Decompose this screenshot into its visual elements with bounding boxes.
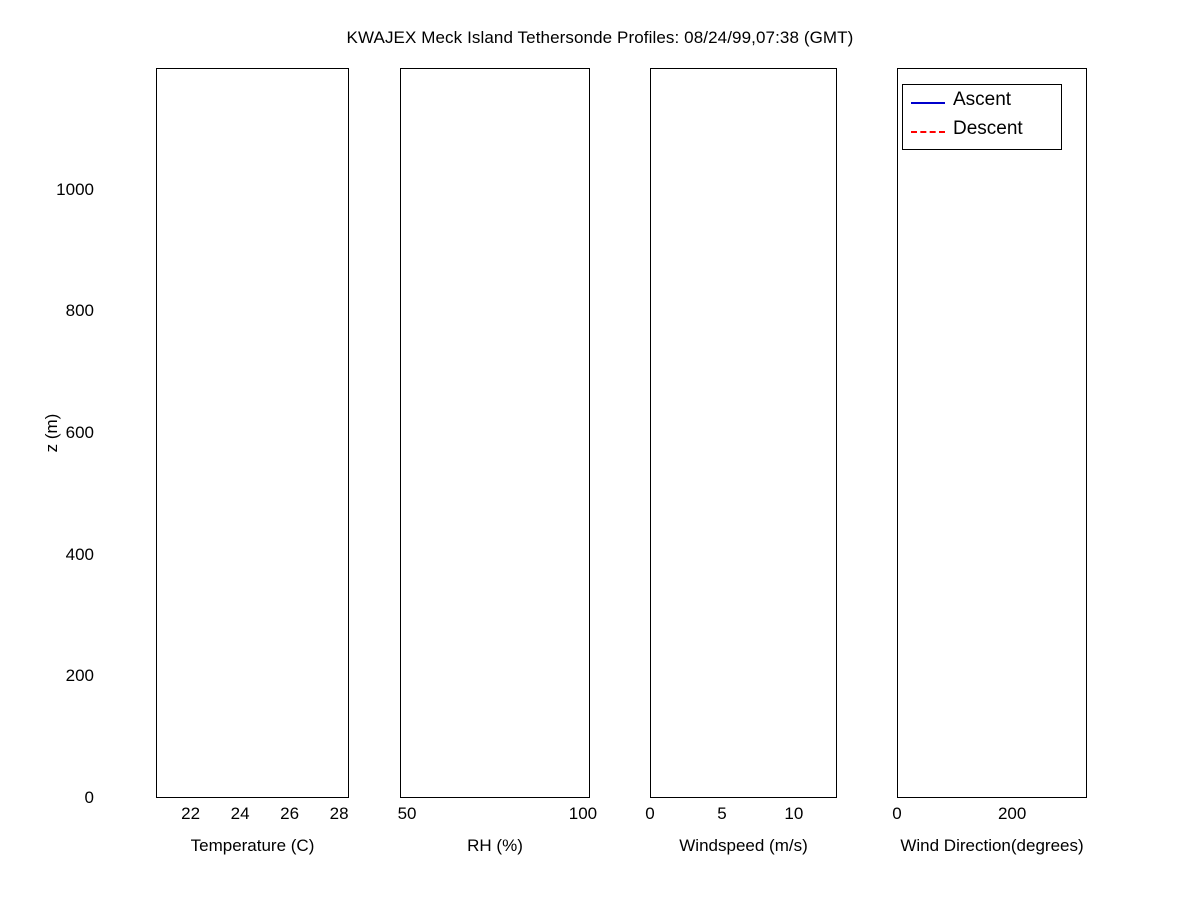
y-tick-label: 800 xyxy=(66,301,94,321)
x-tick-label: 0 xyxy=(645,804,654,824)
x-axis-title-panel-4: Wind Direction(degrees) xyxy=(900,836,1083,856)
panel-temperature xyxy=(156,68,349,798)
legend-entry-ascent: Ascent xyxy=(903,88,1061,117)
panel-frame xyxy=(897,68,1087,798)
figure-canvas: KWAJEX Meck Island Tethersonde Profiles:… xyxy=(0,0,1200,900)
y-tick-label: 400 xyxy=(66,545,94,565)
x-tick-label: 50 xyxy=(398,804,417,824)
legend-label-ascent: Ascent xyxy=(953,89,1011,111)
x-axis-title-panel-3: Windspeed (m/s) xyxy=(679,836,807,856)
panel-rh xyxy=(400,68,590,798)
panel-frame xyxy=(156,68,349,798)
panel-wind-direction xyxy=(897,68,1087,798)
panel-frame xyxy=(650,68,837,798)
figure-title: KWAJEX Meck Island Tethersonde Profiles:… xyxy=(0,28,1200,48)
x-tick-label: 10 xyxy=(784,804,803,824)
x-tick-label: 200 xyxy=(998,804,1026,824)
x-axis-title-panel-1: Temperature (C) xyxy=(191,836,315,856)
legend: Ascent Descent xyxy=(902,84,1062,150)
legend-entry-descent: Descent xyxy=(903,117,1061,146)
x-tick-label: 28 xyxy=(330,804,349,824)
y-tick-label: 600 xyxy=(66,423,94,443)
x-tick-label: 24 xyxy=(231,804,250,824)
legend-label-descent: Descent xyxy=(953,118,1023,140)
y-tick-label: 200 xyxy=(66,666,94,686)
panel-windspeed xyxy=(650,68,837,798)
x-tick-label: 100 xyxy=(569,804,597,824)
x-axis-title-panel-2: RH (%) xyxy=(467,836,523,856)
x-tick-label: 22 xyxy=(181,804,200,824)
x-tick-label: 0 xyxy=(892,804,901,824)
x-tick-label: 26 xyxy=(280,804,299,824)
panel-frame xyxy=(400,68,590,798)
y-axis-tick-labels: 02004006008001000 xyxy=(40,68,100,798)
x-tick-label: 5 xyxy=(717,804,726,824)
y-tick-label: 0 xyxy=(85,788,94,808)
legend-swatch-descent xyxy=(911,131,945,133)
legend-swatch-ascent xyxy=(911,102,945,104)
y-tick-label: 1000 xyxy=(56,180,94,200)
